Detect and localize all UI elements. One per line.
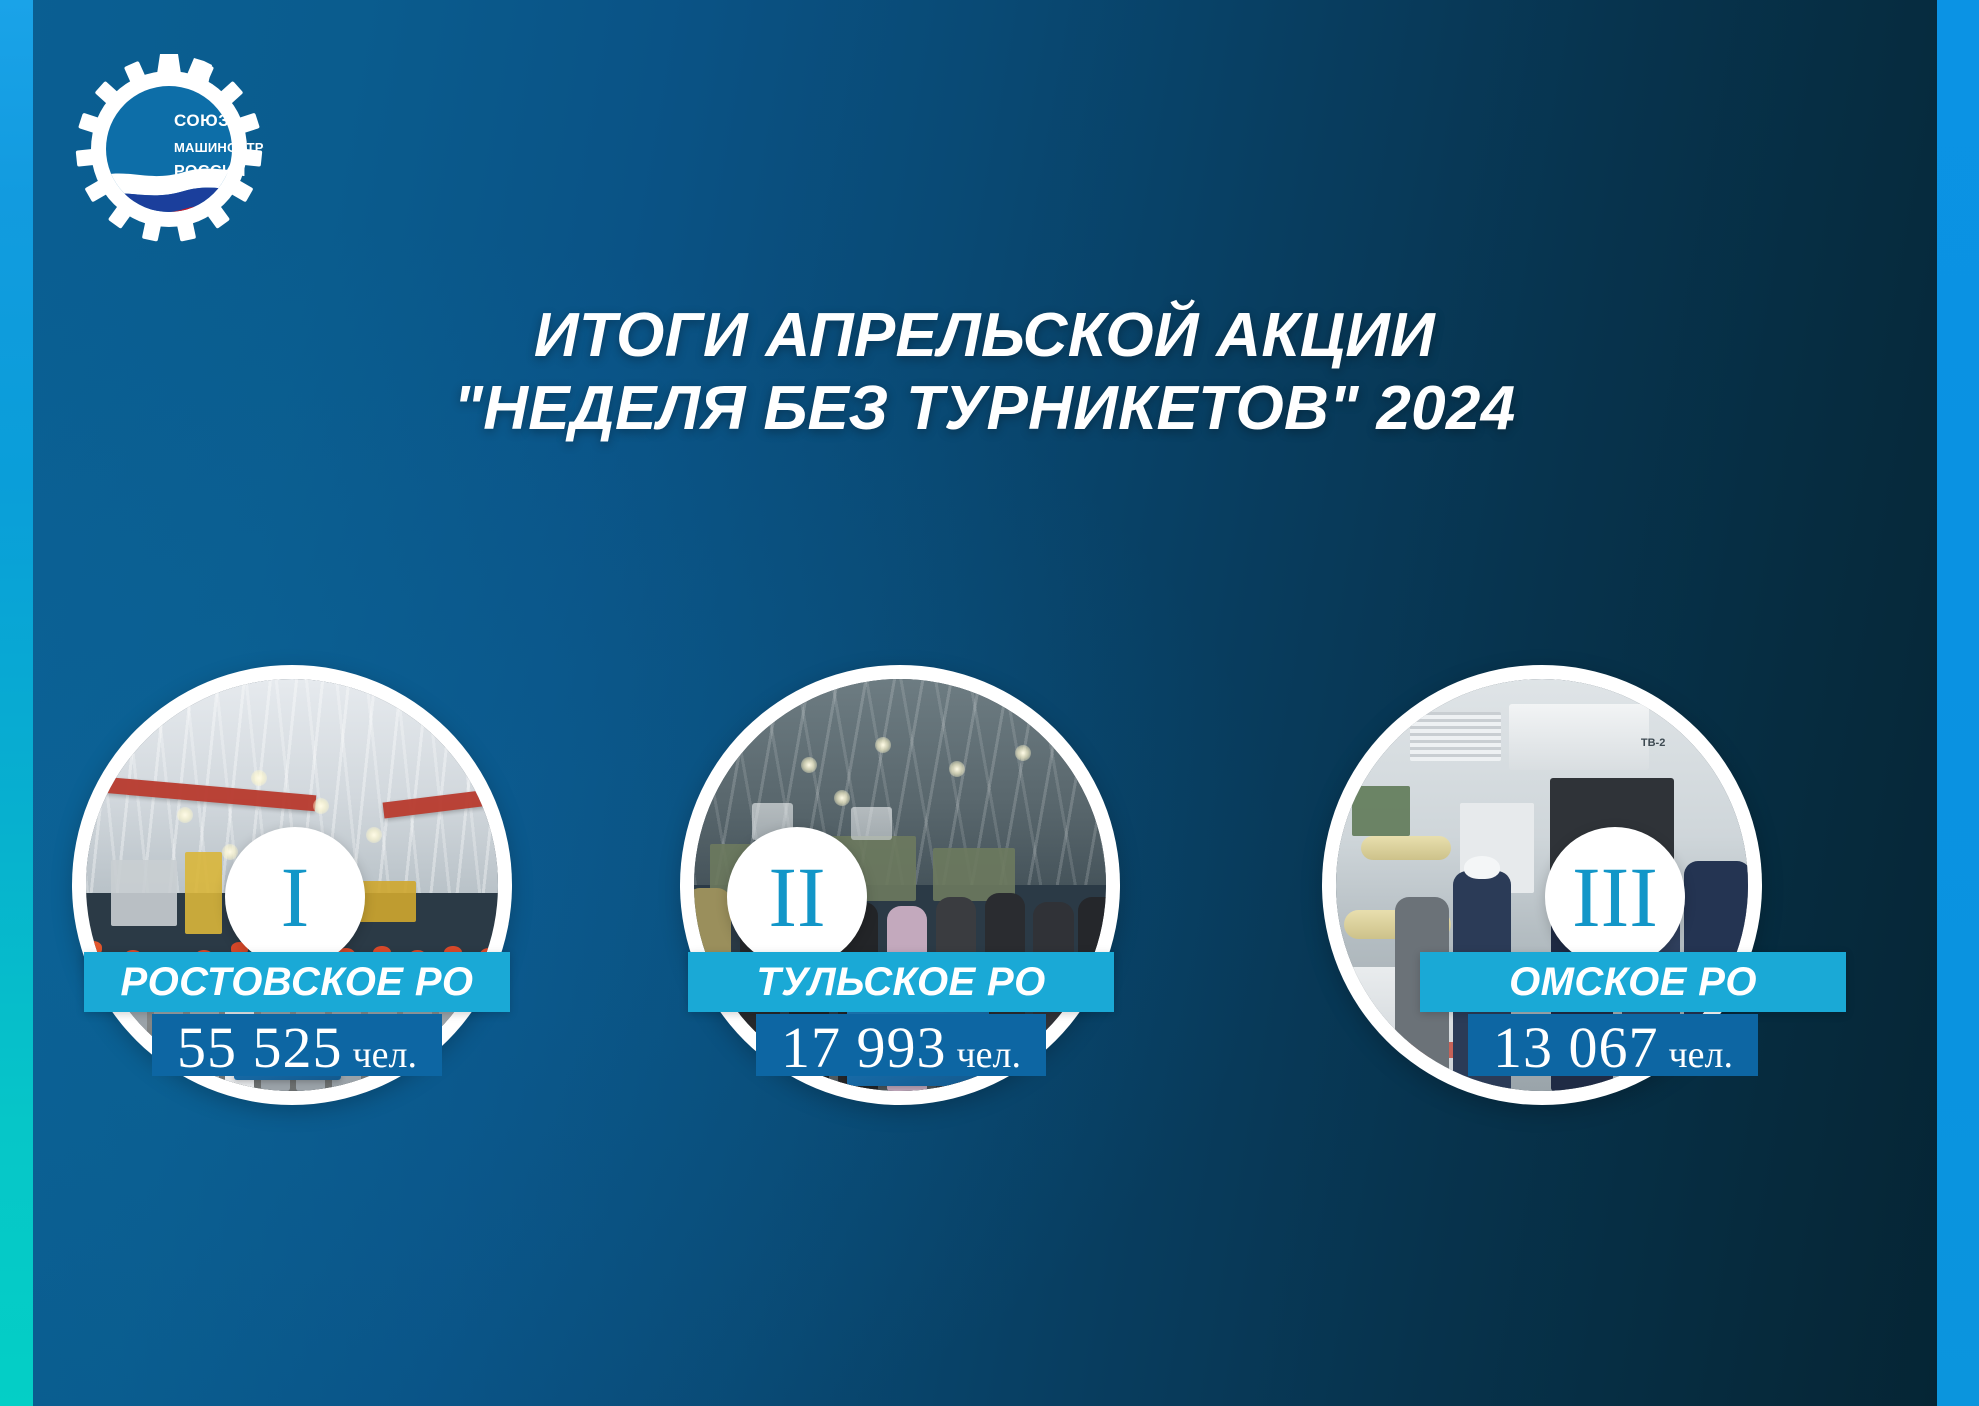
region-label-2: ТУЛЬСКОЕ РО — [688, 952, 1114, 1012]
count-value-2: 17 993 — [781, 1014, 947, 1081]
region-label-3: ОМСКОЕ РО — [1420, 952, 1846, 1012]
count-box-3: 13 067 чел. — [1468, 1014, 1758, 1076]
rank-numeral-2: II — [768, 847, 825, 947]
count-box-2: 17 993 чел. — [756, 1014, 1046, 1076]
rank-badge-1: I — [225, 827, 365, 967]
region-name-1: РОСТОВСКОЕ РО — [121, 960, 474, 1005]
count-unit-1: чел. — [353, 1033, 417, 1077]
rank-badge-3: III — [1545, 827, 1685, 967]
rank-numeral-3: III — [1572, 847, 1658, 947]
infographic-poster: СОЮЗ МАШИНОСТРОИТЕЛЕЙ РОССИИ ИТОГИ АПРЕЛ… — [0, 0, 1979, 1406]
count-unit-2: чел. — [957, 1033, 1021, 1077]
count-value-3: 13 067 — [1493, 1014, 1659, 1081]
region-name-2: ТУЛЬСКОЕ РО — [756, 960, 1045, 1005]
count-unit-3: чел. — [1669, 1033, 1733, 1077]
result-card-3: ТВ-2 III — [0, 0, 1979, 1406]
count-value-1: 55 525 — [177, 1014, 343, 1081]
rank-numeral-1: I — [281, 847, 310, 947]
count-box-1: 55 525 чел. — [152, 1014, 442, 1076]
region-label-1: РОСТОВСКОЕ РО — [84, 952, 510, 1012]
machine-label-icon: ТВ-2 — [1641, 737, 1665, 749]
rank-badge-2: II — [727, 827, 867, 967]
region-name-3: ОМСКОЕ РО — [1509, 960, 1757, 1005]
